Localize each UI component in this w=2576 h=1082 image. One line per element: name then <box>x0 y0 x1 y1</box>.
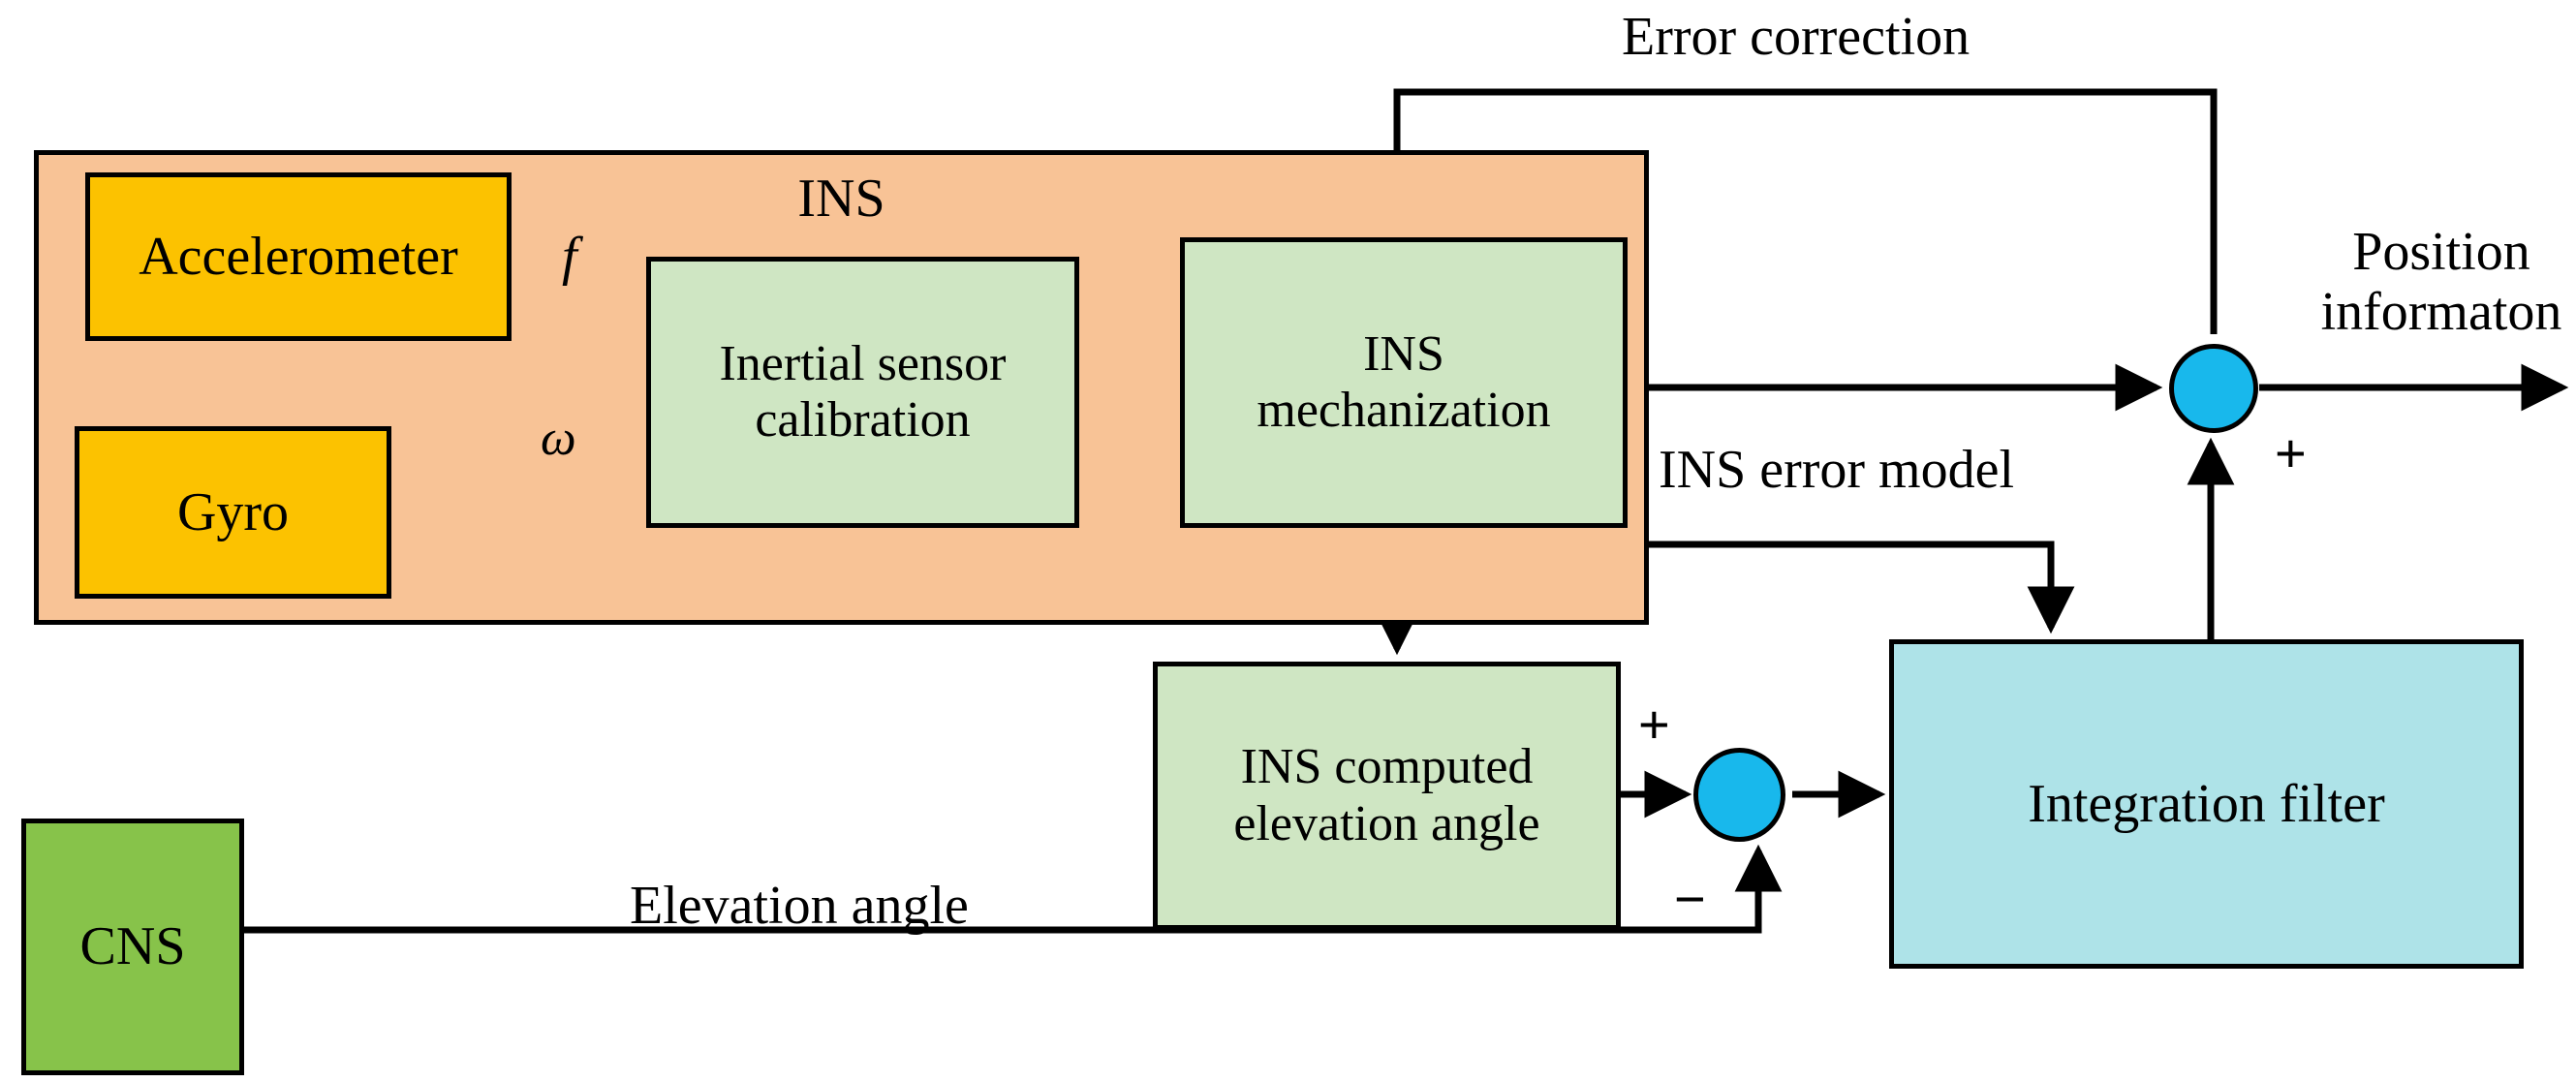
ins-mechanization-block[interactable]: INS mechanization <box>1180 237 1628 528</box>
ins-mechanization-label-line1: INS <box>1185 326 1623 383</box>
ins-computed-elevation-angle-label-line2: elevation angle <box>1158 796 1616 852</box>
block-diagram-canvas: INS Accelerometer Gyro Inertial sensor c… <box>0 0 2576 1082</box>
position-sum-plus-sign: + <box>2275 421 2307 484</box>
position-summing-node[interactable] <box>2169 344 2258 433</box>
error-correction-label: Error correction <box>1622 8 1970 68</box>
ins-computed-elevation-angle-block[interactable]: INS computed elevation angle <box>1153 662 1621 930</box>
elevation-angle-label: Elevation angle <box>630 877 969 937</box>
accelerometer-block[interactable]: Accelerometer <box>85 172 512 341</box>
integration-filter-label: Integration filter <box>1894 774 2519 835</box>
elevation-sum-plus-sign: + <box>1638 693 1670 756</box>
position-information-label: Position informaton <box>2315 223 2567 342</box>
position-information-label-line1: Position <box>2352 222 2530 282</box>
arrow-ins-error-model-to-filter <box>1649 544 2051 628</box>
inertial-sensor-calibration-label-line2: calibration <box>651 392 1074 448</box>
ins-error-model-label: INS error model <box>1659 441 2014 501</box>
inertial-sensor-calibration-block[interactable]: Inertial sensor calibration <box>646 257 1079 528</box>
cns-block[interactable]: CNS <box>21 819 244 1075</box>
gyro-block[interactable]: Gyro <box>75 426 391 599</box>
integration-filter-block[interactable]: Integration filter <box>1889 639 2524 969</box>
elevation-summing-node[interactable] <box>1693 748 1785 842</box>
accelerometer-label: Accelerometer <box>90 227 507 288</box>
inertial-sensor-calibration-label-line1: Inertial sensor <box>651 336 1074 392</box>
position-information-label-line2: informaton <box>2321 282 2562 342</box>
specific-force-label: f <box>562 228 577 288</box>
gyro-label: Gyro <box>79 482 387 543</box>
elevation-sum-minus-sign: − <box>1674 867 1706 930</box>
ins-mechanization-label-line2: mechanization <box>1185 383 1623 439</box>
ins-computed-elevation-angle-label-line1: INS computed <box>1158 739 1616 795</box>
angular-rate-label: ω <box>541 411 576 466</box>
cns-label: CNS <box>26 916 239 977</box>
